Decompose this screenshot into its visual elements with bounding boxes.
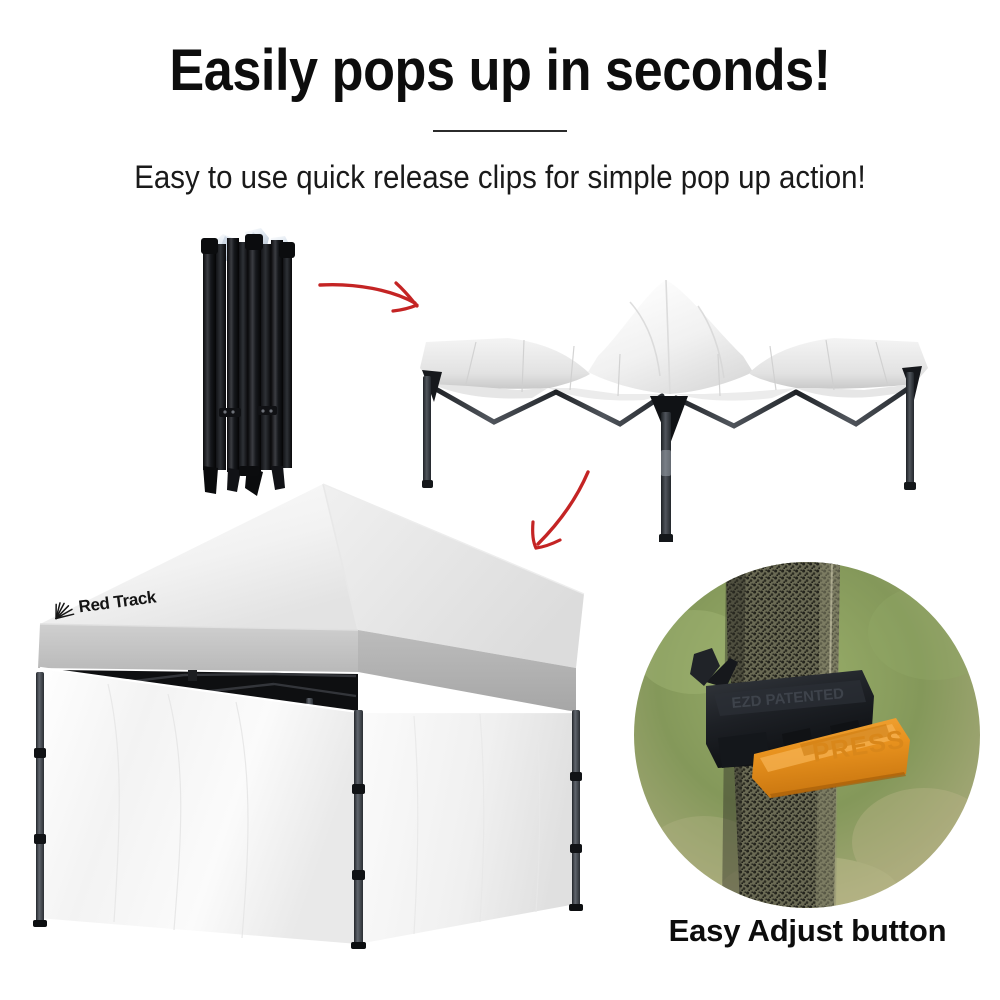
brand-name: Red Track: [77, 587, 157, 617]
inset-caption: Easy Adjust button: [620, 912, 995, 950]
page-subtitle: Easy to use quick release clips for simp…: [40, 157, 960, 197]
infographic-page: Easily pops up in seconds! Easy to use q…: [0, 0, 1000, 1000]
gazebo-right-wall: [358, 712, 576, 944]
easy-adjust-button-photo: EZD PATENTED PRESS: [634, 562, 980, 908]
folded-frame-illustration: [183, 222, 313, 497]
clip-closeup-illustration: EZD PATENTED PRESS: [634, 562, 980, 908]
folded-poles: [203, 236, 292, 472]
folded-frame-figure: [183, 222, 313, 497]
title-divider: [433, 130, 567, 132]
gazebo-left-wall: [38, 668, 358, 944]
popup-canopy: [420, 280, 928, 401]
assembled-gazebo-illustration: [28, 472, 638, 952]
page-title: Easily pops up in seconds!: [50, 38, 950, 104]
sunburst-icon: [51, 597, 78, 622]
assembled-gazebo-figure: [28, 472, 638, 952]
